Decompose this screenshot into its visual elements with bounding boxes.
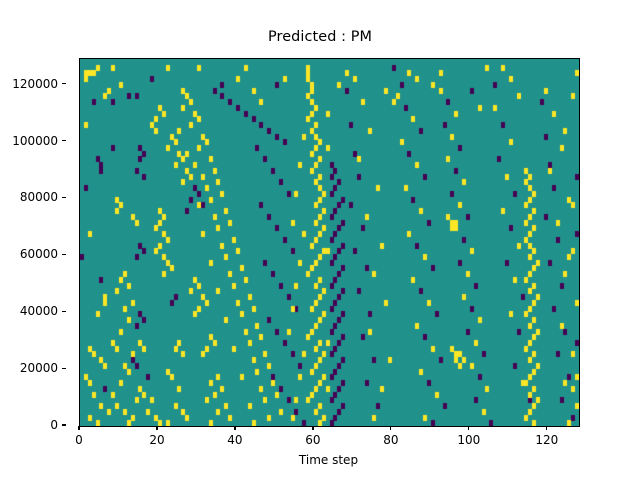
- y-tick-label: 120000: [12, 77, 58, 91]
- y-tick-label: 80000: [20, 190, 58, 204]
- y-tick-mark: [62, 424, 66, 425]
- y-tick-label: 40000: [20, 304, 58, 318]
- y-tick-mark: [62, 368, 66, 369]
- x-tick-mark: [546, 426, 547, 430]
- x-tick-label: 40: [227, 433, 242, 447]
- x-tick-mark: [468, 426, 469, 430]
- x-tick-label: 120: [535, 433, 558, 447]
- x-axis-label: Time step: [79, 453, 578, 467]
- y-tick-label: 0: [50, 418, 58, 432]
- y-tick-label: 60000: [20, 247, 58, 261]
- y-tick-mark: [62, 254, 66, 255]
- x-tick-label: 0: [75, 433, 83, 447]
- x-tick-mark: [390, 426, 391, 430]
- heatmap-image: [80, 59, 579, 426]
- y-tick-mark: [62, 140, 66, 141]
- x-tick-label: 100: [457, 433, 480, 447]
- x-tick-mark: [234, 426, 235, 430]
- x-tick-mark: [78, 426, 79, 430]
- x-tick-label: 80: [383, 433, 398, 447]
- y-tick-mark: [62, 197, 66, 198]
- y-tick-mark: [62, 311, 66, 312]
- x-tick-mark: [156, 426, 157, 430]
- y-tick-label: 100000: [12, 134, 58, 148]
- heatmap-axes: [79, 58, 580, 427]
- chart-title: Predicted : PM: [0, 29, 640, 45]
- x-tick-mark: [312, 426, 313, 430]
- y-tick-mark: [62, 83, 66, 84]
- y-tick-label: 20000: [20, 361, 58, 375]
- x-tick-label: 20: [149, 433, 164, 447]
- figure-canvas: Predicted : PM 0200004000060000800001000…: [0, 0, 640, 480]
- x-tick-label: 60: [305, 433, 320, 447]
